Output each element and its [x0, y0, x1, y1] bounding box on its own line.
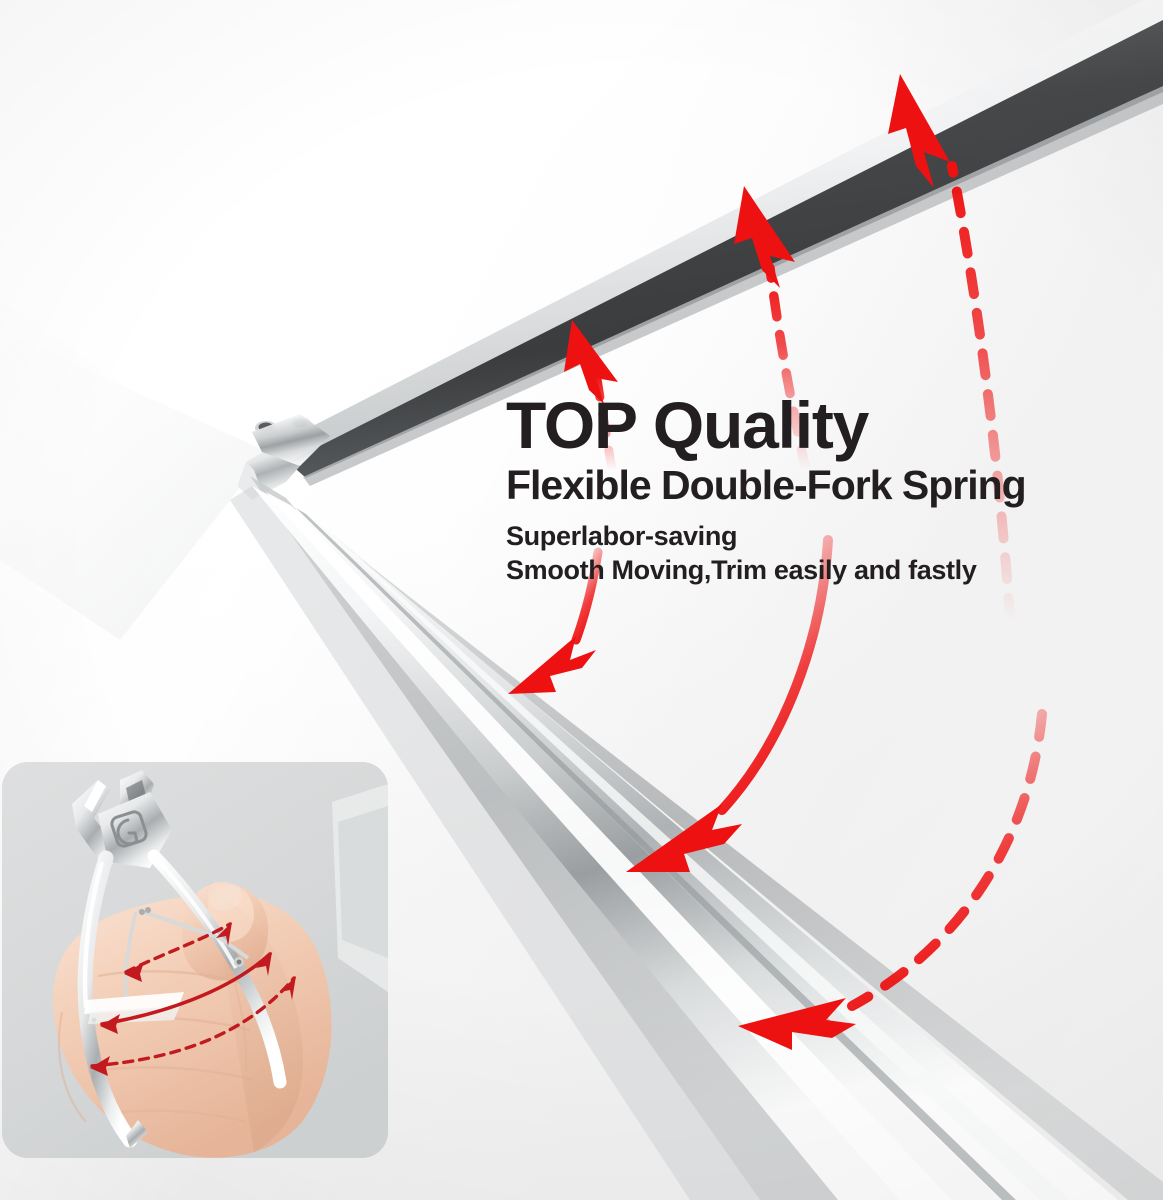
marketing-copy-block: TOP Quality Flexible Double-Fork Spring … [506, 392, 1126, 587]
benefit-line-1: Superlabor-saving [506, 519, 1126, 553]
headline: TOP Quality [506, 392, 1126, 458]
hand-holding-nipper-illustration [2, 762, 388, 1158]
product-banner: TOP Quality Flexible Double-Fork Spring … [0, 0, 1163, 1200]
subheadline: Flexible Double-Fork Spring [506, 464, 1126, 507]
benefit-line-2: Smooth Moving,Trim easily and fastly [506, 553, 1126, 587]
inset-usage-photo [2, 762, 388, 1158]
